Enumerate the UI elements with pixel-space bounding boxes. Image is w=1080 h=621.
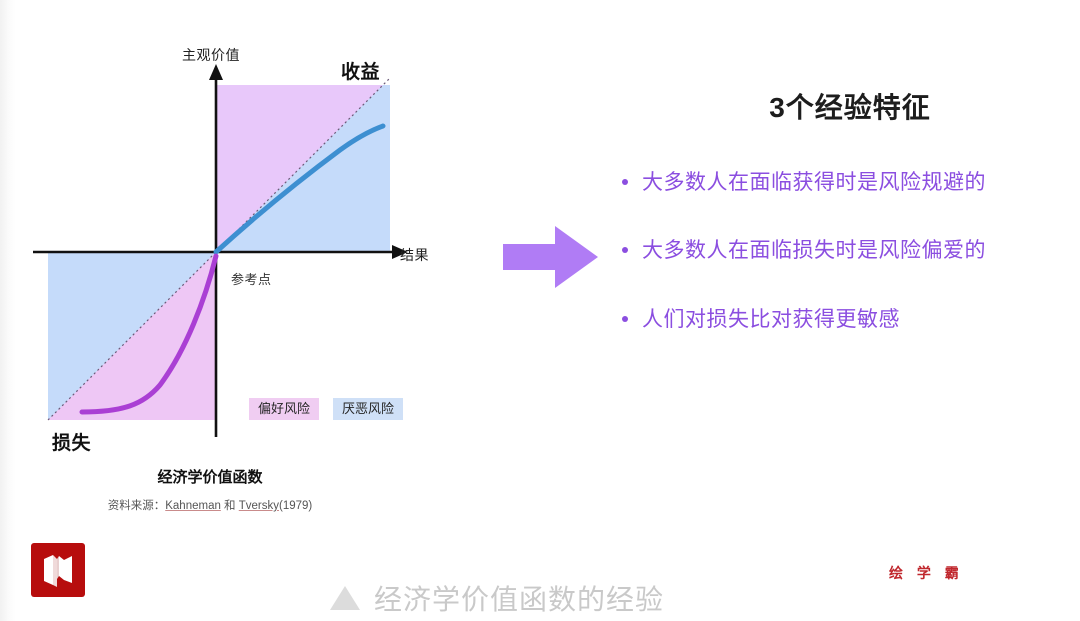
list-item: 大多数人在面临获得时是风险规避的	[642, 170, 1080, 196]
brand-label: 绘 学 霸	[889, 563, 964, 583]
book-logo-icon	[31, 543, 85, 597]
figure-caption: 经济学价值函数	[0, 466, 420, 487]
insight-bullet-list: 大多数人在面临获得时是风险规避的 大多数人在面临损失时是风险偏爱的 人们对损失比…	[620, 170, 1080, 333]
triangle-icon	[330, 586, 360, 610]
list-item: 人们对损失比对获得更敏感	[642, 307, 1080, 333]
source-year: (1979)	[279, 500, 312, 512]
insights-panel: 3个经验特征 大多数人在面临获得时是风险规避的 大多数人在面临损失时是风险偏爱的…	[620, 86, 1080, 333]
bullet-text: 大多数人在面临损失时是风险偏爱的	[642, 239, 986, 262]
bullet-dot-icon	[622, 179, 628, 185]
y-axis-arrowhead	[209, 64, 223, 80]
source-author-kahneman: Kahneman	[165, 500, 221, 512]
source-conjunction: 和	[221, 500, 239, 512]
figure-source: 资料来源：Kahneman 和 Tversky(1979)	[0, 497, 420, 513]
gain-region-label: 收益	[341, 57, 380, 84]
legend-item-risk-averse: 厌恶风险	[333, 398, 403, 420]
loss-region-label: 损失	[52, 428, 91, 455]
list-item: 大多数人在面临损失时是风险偏爱的	[642, 238, 1080, 264]
source-prefix: 资料来源：	[108, 500, 166, 512]
reference-point-label: 参考点	[231, 269, 272, 288]
bullet-dot-icon	[622, 316, 628, 322]
watermark: 经济学价值函数的经验	[330, 578, 664, 618]
value-function-figure: 主观价值 结果 收益 损失 参考点 偏好风险 厌恶风险 经济学价值函数 资料来源…	[0, 0, 470, 530]
bullet-text: 大多数人在面临获得时是风险规避的	[642, 171, 986, 194]
bullet-dot-icon	[622, 247, 628, 253]
chart-legend: 偏好风险 厌恶风险	[249, 398, 403, 420]
bullet-text: 人们对损失比对获得更敏感	[642, 308, 900, 331]
y-axis-label: 主观价值	[182, 45, 240, 65]
slide-canvas: 主观价值 结果 收益 损失 参考点 偏好风险 厌恶风险 经济学价值函数 资料来源…	[0, 0, 1080, 621]
right-arrow-icon	[503, 224, 599, 290]
flow-arrow	[503, 224, 599, 290]
source-author-tversky: Tversky	[239, 500, 279, 512]
site-logo[interactable]	[31, 543, 85, 597]
x-axis-label: 结果	[400, 245, 429, 265]
watermark-text: 经济学价值函数的经验	[374, 578, 664, 618]
legend-item-risk-seeking: 偏好风险	[249, 398, 319, 420]
panel-title: 3个经验特征	[620, 86, 1080, 126]
